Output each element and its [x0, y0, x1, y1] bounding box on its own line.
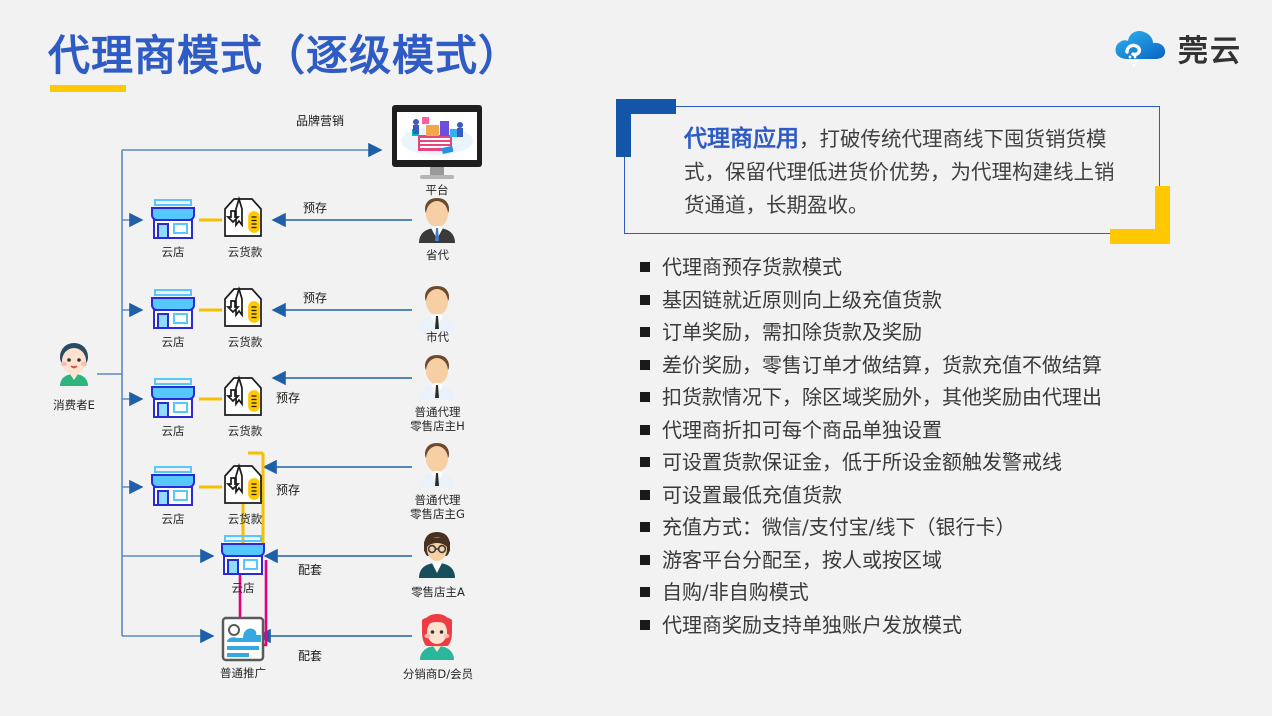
promotion-label: 普通推广 [208, 666, 278, 680]
cloud-store-icon [218, 534, 268, 576]
cloud-icon [1111, 26, 1169, 70]
store-label: 云店 [143, 424, 203, 438]
list-item: 自购/非自购模式 [640, 577, 1240, 610]
list-item-label: 基因链就近原则向上级充值货款 [662, 285, 942, 315]
list-item: 充值方式：微信/支付宝/线下（银行卡） [640, 512, 1240, 545]
list-item: 差价奖励，零售订单才做结算，货款充值不做结算 [640, 350, 1240, 383]
list-item-label: 代理商折扣可每个商品单独设置 [662, 415, 942, 445]
agent-suit-avatar-icon [415, 195, 459, 243]
edge-label-prestore-1: 预存 [303, 199, 327, 216]
payment-box-label: 云货款 [215, 512, 275, 526]
list-item-label: 可设置最低充值货款 [662, 480, 842, 510]
list-item-label: 游客平台分配至，按人或按区域 [662, 545, 942, 575]
agent-label: 普通代理 零售店主G [390, 493, 485, 521]
agent-label: 省代 [405, 248, 470, 262]
list-item: 订单奖励，需扣除货款及奖励 [640, 317, 1240, 350]
brand-logo: 莞云 [1111, 26, 1242, 70]
payment-box-label: 云货款 [215, 424, 275, 438]
cloud-store-icon [148, 465, 198, 507]
list-item-label: 可设置货款保证金，低于所设金额触发警戒线 [662, 447, 1062, 477]
bullet-square-icon [640, 262, 650, 272]
list-item: 扣货款情况下，除区域奖励外，其他奖励由代理出 [640, 382, 1240, 415]
bullet-square-icon [640, 327, 650, 337]
payment-box-label: 云货款 [215, 335, 275, 349]
edge-label-prestore-4: 预存 [276, 481, 300, 498]
bullet-square-icon [640, 295, 650, 305]
promotion-image-icon [221, 616, 265, 662]
store-label: 云店 [143, 245, 203, 259]
logo-text: 莞云 [1178, 26, 1242, 70]
list-item-label: 充值方式：微信/支付宝/线下（银行卡） [662, 512, 1015, 542]
list-item-label: 差价奖励，零售订单才做结算，货款充值不做结算 [662, 350, 1102, 380]
agent-label: 零售店主A [398, 585, 478, 599]
edge-label-bundle-1: 配套 [298, 561, 322, 578]
bullet-square-icon [640, 392, 650, 402]
edge-label-brand-marketing: 品牌营销 [296, 112, 344, 129]
bullet-square-icon [640, 425, 650, 435]
cloud-payment-box-icon [222, 196, 264, 242]
cloud-payment-box-icon [222, 286, 264, 332]
slide-root: 代理商模式（逐级模式） 莞云 代理商应用，打破传统代理商线下囤货销货模式，保留代… [0, 0, 1272, 716]
agent-shirt-avatar-icon [415, 283, 459, 331]
agent-label: 分销商D/会员 [388, 667, 488, 681]
bullet-square-icon [640, 587, 650, 597]
cloud-store-icon [148, 198, 198, 240]
list-item: 游客平台分配至，按人或按区域 [640, 545, 1240, 578]
agent-label: 市代 [405, 330, 470, 344]
list-item: 代理商预存货款模式 [640, 252, 1240, 285]
list-item-label: 订单奖励，需扣除货款及奖励 [662, 317, 922, 347]
list-item: 可设置货款保证金，低于所设金额触发警戒线 [640, 447, 1240, 480]
store-label: 云店 [143, 512, 203, 526]
consumer-avatar-icon [52, 340, 96, 386]
bullet-square-icon [640, 457, 650, 467]
agent-flow-diagram: 消费者E 平台 [0, 0, 620, 716]
bullet-square-icon [640, 522, 650, 532]
cloud-payment-box-icon [222, 375, 264, 421]
list-item: 代理商折扣可每个商品单独设置 [640, 415, 1240, 448]
cloud-store-icon [148, 377, 198, 419]
bullet-square-icon [640, 360, 650, 370]
cloud-store-icon [148, 288, 198, 330]
bullet-square-icon [640, 555, 650, 565]
agent-label-line2: 零售店主G [410, 507, 465, 521]
bullet-square-icon [640, 490, 650, 500]
agent-shirt-avatar-icon [415, 440, 459, 488]
callout-highlight: 代理商应用 [684, 125, 799, 152]
cloud-payment-box-icon [222, 463, 264, 509]
list-item-label: 代理商奖励支持单独账户发放模式 [662, 610, 962, 640]
edge-label-prestore-3: 预存 [276, 389, 300, 406]
feature-bullet-list: 代理商预存货款模式 基因链就近原则向上级充值货款 订单奖励，需扣除货款及奖励 差… [640, 252, 1240, 642]
agent-label-line1: 普通代理 [415, 405, 461, 419]
bullet-square-icon [640, 620, 650, 630]
store-label: 云店 [213, 581, 273, 595]
agent-label-line1: 普通代理 [415, 493, 461, 507]
store-label: 云店 [143, 335, 203, 349]
payment-box-label: 云货款 [215, 245, 275, 259]
list-item: 代理商奖励支持单独账户发放模式 [640, 610, 1240, 643]
list-item: 基因链就近原则向上级充值货款 [640, 285, 1240, 318]
list-item-label: 自购/非自购模式 [662, 577, 809, 607]
list-item-label: 代理商预存货款模式 [662, 252, 842, 282]
edge-label-prestore-2: 预存 [303, 289, 327, 306]
female-glasses-avatar-icon [415, 530, 459, 578]
agent-label: 普通代理 零售店主H [390, 405, 485, 433]
consumer-label: 消费者E [34, 398, 114, 412]
list-item-label: 扣货款情况下，除区域奖励外，其他奖励由代理出 [662, 382, 1102, 412]
female-red-hair-avatar-icon [415, 612, 459, 660]
agent-shirt-avatar-icon [415, 352, 459, 400]
agent-label-line2: 零售店主H [410, 419, 465, 433]
edge-label-bundle-2: 配套 [298, 647, 322, 664]
monitor-icon [392, 105, 482, 181]
callout-text: 代理商应用，打破传统代理商线下囤货销货模式，保留代理低进货价优势，为代理构建线上… [684, 122, 1134, 222]
list-item: 可设置最低充值货款 [640, 480, 1240, 513]
